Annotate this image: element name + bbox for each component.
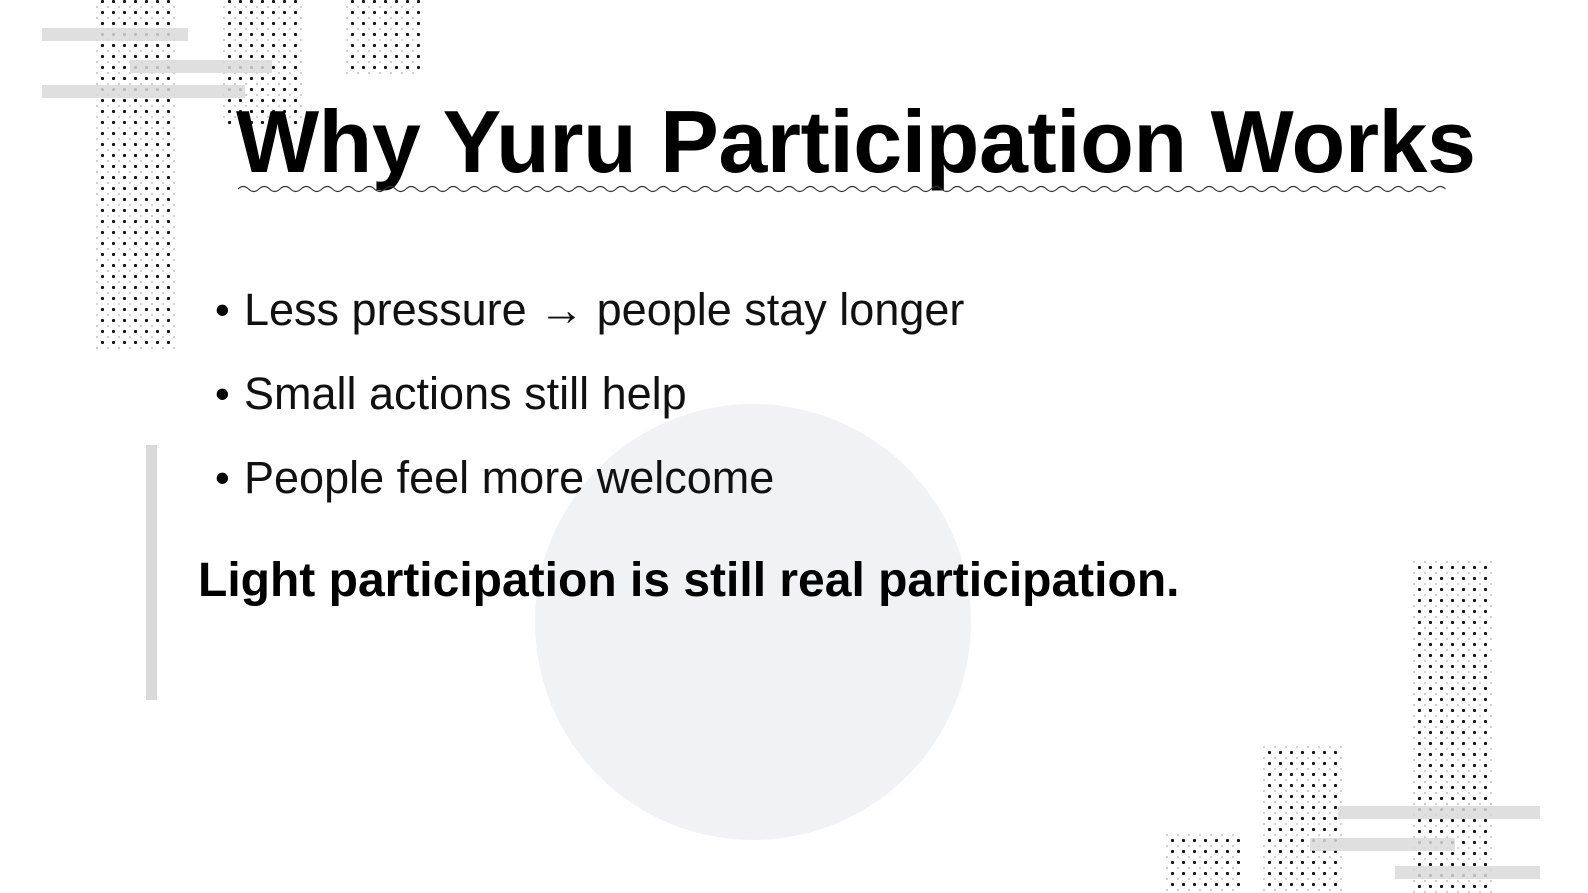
vertical-accent-bar [146, 445, 157, 700]
dot-pattern-block-bottom-right-3 [1165, 833, 1241, 893]
content-block: • Less pressure → people stay longer • S… [198, 278, 1398, 610]
accent-bar-top-left-2 [130, 60, 272, 73]
list-item: • Small actions still help [198, 362, 1398, 446]
bullet-text-2: Small actions still help [244, 362, 687, 426]
bullet-point-icon: • [198, 278, 244, 342]
accent-bar-bottom-right-1 [1338, 806, 1540, 819]
closing-statement: Light participation is still real partic… [198, 552, 1398, 610]
slide-canvas: Why Yuru Participation Works • Less pres… [0, 0, 1588, 893]
accent-bar-bottom-right-3 [1395, 866, 1540, 879]
dot-pattern-block-top-left-3 [345, 0, 421, 75]
page-title: Why Yuru Participation Works [236, 98, 1466, 186]
bullet-point-icon: • [198, 362, 244, 426]
accent-bar-top-left-3 [42, 85, 245, 98]
title-block: Why Yuru Participation Works [236, 98, 1466, 186]
title-wavy-underline-icon [238, 182, 1454, 196]
dot-pattern-block-bottom-right-2 [1262, 745, 1342, 893]
list-item: • People feel more welcome [198, 446, 1398, 530]
bullet-text-1: Less pressure → people stay longer [244, 278, 964, 342]
accent-bar-top-left-1 [42, 28, 188, 41]
bullet-point-icon: • [198, 446, 244, 510]
bullet-text-3: People feel more welcome [244, 446, 774, 510]
dot-pattern-block-top-left-1 [95, 0, 175, 350]
list-item: • Less pressure → people stay longer [198, 278, 1398, 362]
accent-bar-bottom-right-2 [1310, 838, 1455, 851]
